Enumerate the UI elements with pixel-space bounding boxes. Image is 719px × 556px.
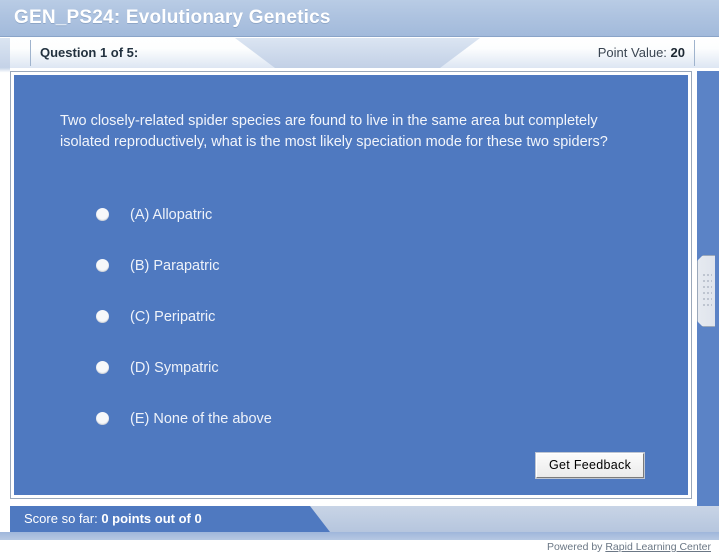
answer-option-label: (E) None of the above	[130, 411, 272, 427]
powered-by-label: Powered by	[547, 541, 602, 553]
brand-link[interactable]: Rapid Learning Center	[605, 541, 711, 553]
radio-button-icon[interactable]	[96, 310, 109, 323]
answer-options-list: (A) Allopatric (B) Parapatric (C) Peripa…	[96, 189, 616, 444]
score-prefix-label: Score so far:	[24, 511, 98, 526]
radio-button-icon[interactable]	[96, 259, 109, 272]
point-value-label: Point Value:	[598, 45, 667, 60]
answer-option-label: (A) Allopatric	[130, 207, 212, 223]
score-bar: Score so far: 0 points out of 0	[10, 506, 719, 532]
footer-divider	[0, 532, 719, 540]
radio-button-icon[interactable]	[96, 208, 109, 221]
left-edge-filler	[0, 38, 10, 532]
footer: Powered by Rapid Learning Center	[0, 540, 719, 556]
point-value-number: 20	[671, 45, 685, 60]
panel-resize-handle[interactable]	[697, 255, 715, 327]
answer-option-d[interactable]: (D) Sympatric	[96, 342, 616, 393]
answer-option-label: (D) Sympatric	[130, 360, 219, 376]
question-status-bar: Question 1 of 5: Point Value: 20	[0, 38, 719, 68]
answer-option-label: (B) Parapatric	[130, 258, 219, 274]
page-title: GEN_PS24: Evolutionary Genetics	[14, 7, 331, 29]
answer-option-label: (C) Peripatric	[130, 309, 215, 325]
answer-option-e[interactable]: (E) None of the above	[96, 393, 616, 444]
question-panel: Two closely-related spider species are f…	[14, 75, 688, 495]
radio-button-icon[interactable]	[96, 361, 109, 374]
question-bar-divider-left	[30, 40, 31, 66]
answer-option-c[interactable]: (C) Peripatric	[96, 291, 616, 342]
right-edge-inner-filler	[692, 71, 697, 506]
question-bar-divider-right	[694, 40, 695, 66]
question-counter: Question 1 of 5:	[40, 45, 138, 60]
answer-option-b[interactable]: (B) Parapatric	[96, 240, 616, 291]
title-bar: GEN_PS24: Evolutionary Genetics	[0, 0, 719, 37]
get-feedback-button[interactable]: Get Feedback	[536, 453, 644, 478]
score-status: Score so far: 0 points out of 0	[24, 511, 202, 526]
question-panel-frame: Two closely-related spider species are f…	[10, 71, 692, 499]
quiz-application: GEN_PS24: Evolutionary Genetics Question…	[0, 0, 719, 556]
radio-button-icon[interactable]	[96, 412, 109, 425]
answer-option-a[interactable]: (A) Allopatric	[96, 189, 616, 240]
grip-dots-icon	[703, 274, 712, 308]
powered-by-credit: Powered by Rapid Learning Center	[547, 541, 711, 553]
point-value: Point Value: 20	[598, 45, 685, 60]
question-text: Two closely-related spider species are f…	[60, 111, 620, 153]
score-value: 0 points out of 0	[101, 511, 201, 526]
